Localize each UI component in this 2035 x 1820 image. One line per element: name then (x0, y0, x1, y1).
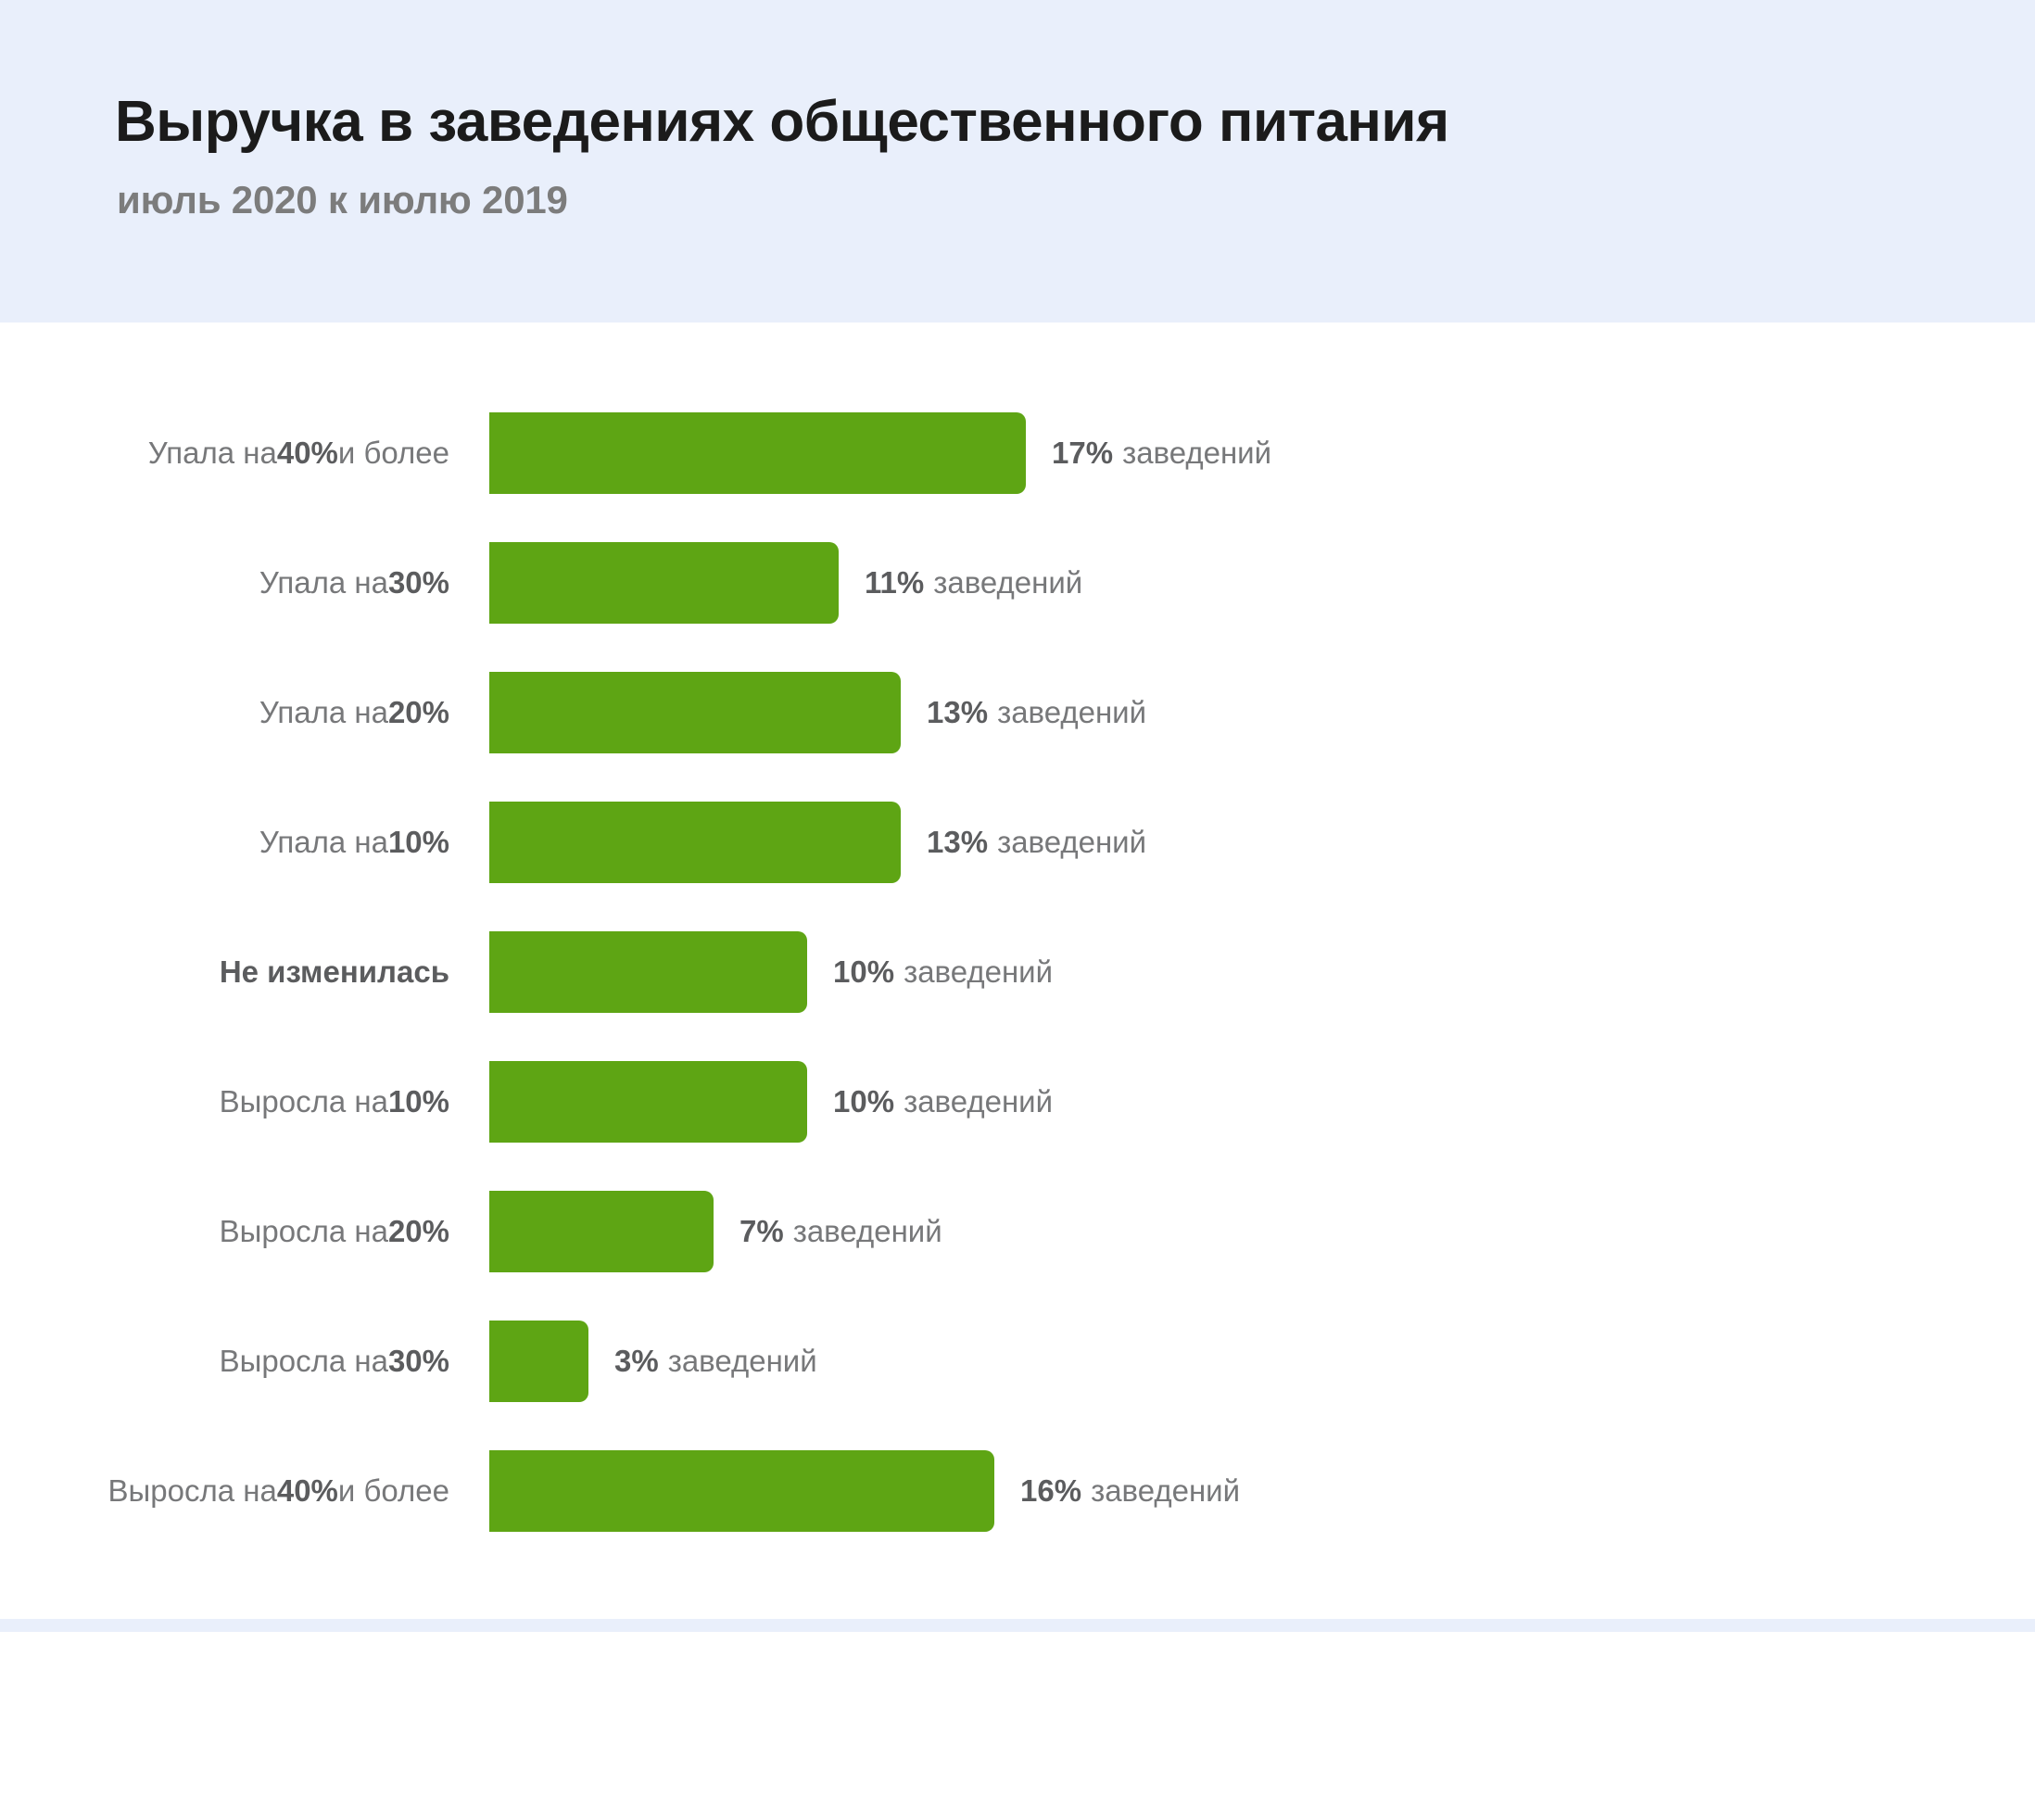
chart-row: Упала на 10%13%заведений (0, 802, 2035, 883)
chart-row: Упала на 20%13%заведений (0, 672, 2035, 753)
value-suffix: заведений (668, 1344, 817, 1379)
value-number: 11% (865, 565, 924, 600)
value-suffix: заведений (997, 825, 1146, 860)
category-label: Выросла на 40% и более (0, 1450, 449, 1532)
chart-row: Выросла на 30%3%заведений (0, 1321, 2035, 1402)
value-number: 7% (739, 1214, 784, 1249)
bar (489, 1450, 994, 1532)
bar (489, 931, 807, 1013)
value-label: 17%заведений (1052, 412, 1271, 494)
value-label: 16%заведений (1020, 1450, 1240, 1532)
value-label: 13%заведений (927, 802, 1146, 883)
category-label: Упала на 10% (0, 802, 449, 883)
chart-row: Выросла на 10%10%заведений (0, 1061, 2035, 1143)
chart-row: Упала на 30%11%заведений (0, 542, 2035, 624)
category-label-prefix: Упала на (259, 695, 388, 730)
value-label: 11%заведений (865, 542, 1082, 624)
value-label: 10%заведений (833, 931, 1053, 1013)
value-number: 10% (833, 1084, 894, 1119)
chart-row: Выросла на 20%7%заведений (0, 1191, 2035, 1272)
bar (489, 1191, 714, 1272)
bar-chart: Упала на 40% и более17%заведенийУпала на… (0, 322, 2035, 1620)
category-label: Выросла на 10% (0, 1061, 449, 1143)
category-label-prefix: Упала на (259, 565, 388, 600)
category-label-prefix: Выросла на (108, 1473, 277, 1509)
value-number: 13% (927, 695, 988, 730)
bar (489, 802, 901, 883)
footer: Poster Аналитику подготовили в компании … (0, 1632, 2035, 1820)
bar (489, 542, 839, 624)
value-suffix: заведений (904, 1084, 1053, 1119)
bar (489, 672, 901, 753)
category-label-emphasis: 40% (277, 436, 338, 471)
value-label: 3%заведений (614, 1321, 817, 1402)
value-number: 17% (1052, 436, 1113, 471)
value-number: 3% (614, 1344, 659, 1379)
value-suffix: заведений (1091, 1473, 1240, 1509)
category-label-prefix: Выросла на (220, 1084, 388, 1119)
category-label: Не изменилась (0, 931, 449, 1013)
value-suffix: заведений (1122, 436, 1271, 471)
chart-row: Упала на 40% и более17%заведений (0, 412, 2035, 494)
category-label-prefix: Выросла на (220, 1214, 388, 1249)
category-label: Упала на 40% и более (0, 412, 449, 494)
chart-row: Не изменилась10%заведений (0, 931, 2035, 1013)
category-label-prefix: Выросла на (220, 1344, 388, 1379)
category-label-emphasis: 10% (388, 1084, 449, 1119)
chart-row: Выросла на 40% и более16%заведений (0, 1450, 2035, 1532)
category-label: Выросла на 30% (0, 1321, 449, 1402)
category-label-emphasis: Не изменилась (220, 954, 449, 990)
category-label-emphasis: 30% (388, 1344, 449, 1379)
category-label-prefix: Упала на (148, 436, 277, 471)
value-number: 10% (833, 954, 894, 990)
value-suffix: заведений (933, 565, 1082, 600)
category-label-emphasis: 30% (388, 565, 449, 600)
value-label: 7%заведений (739, 1191, 942, 1272)
value-label: 10%заведений (833, 1061, 1053, 1143)
page-title: Выручка в заведениях общественного питан… (115, 89, 1449, 155)
category-label-emphasis: 40% (277, 1473, 338, 1509)
category-label-prefix: Упала на (259, 825, 388, 860)
value-label: 13%заведений (927, 672, 1146, 753)
page-subtitle: июль 2020 к июлю 2019 (117, 178, 568, 222)
bar (489, 412, 1026, 494)
bar (489, 1061, 807, 1143)
header-band: Выручка в заведениях общественного питан… (0, 0, 2035, 322)
value-number: 13% (927, 825, 988, 860)
value-suffix: заведений (997, 695, 1146, 730)
category-label: Упала на 30% (0, 542, 449, 624)
category-label-emphasis: 20% (388, 1214, 449, 1249)
category-label: Упала на 20% (0, 672, 449, 753)
category-label-emphasis: 20% (388, 695, 449, 730)
category-label: Выросла на 20% (0, 1191, 449, 1272)
infographic-page: Выручка в заведениях общественного питан… (0, 0, 2035, 1820)
value-suffix: заведений (793, 1214, 942, 1249)
category-label-emphasis: 10% (388, 825, 449, 860)
value-suffix: заведений (904, 954, 1053, 990)
bar (489, 1321, 588, 1402)
category-label-suffix: и более (338, 1473, 449, 1509)
category-label-suffix: и более (338, 436, 449, 471)
value-number: 16% (1020, 1473, 1081, 1509)
footer-divider (0, 1619, 2035, 1632)
